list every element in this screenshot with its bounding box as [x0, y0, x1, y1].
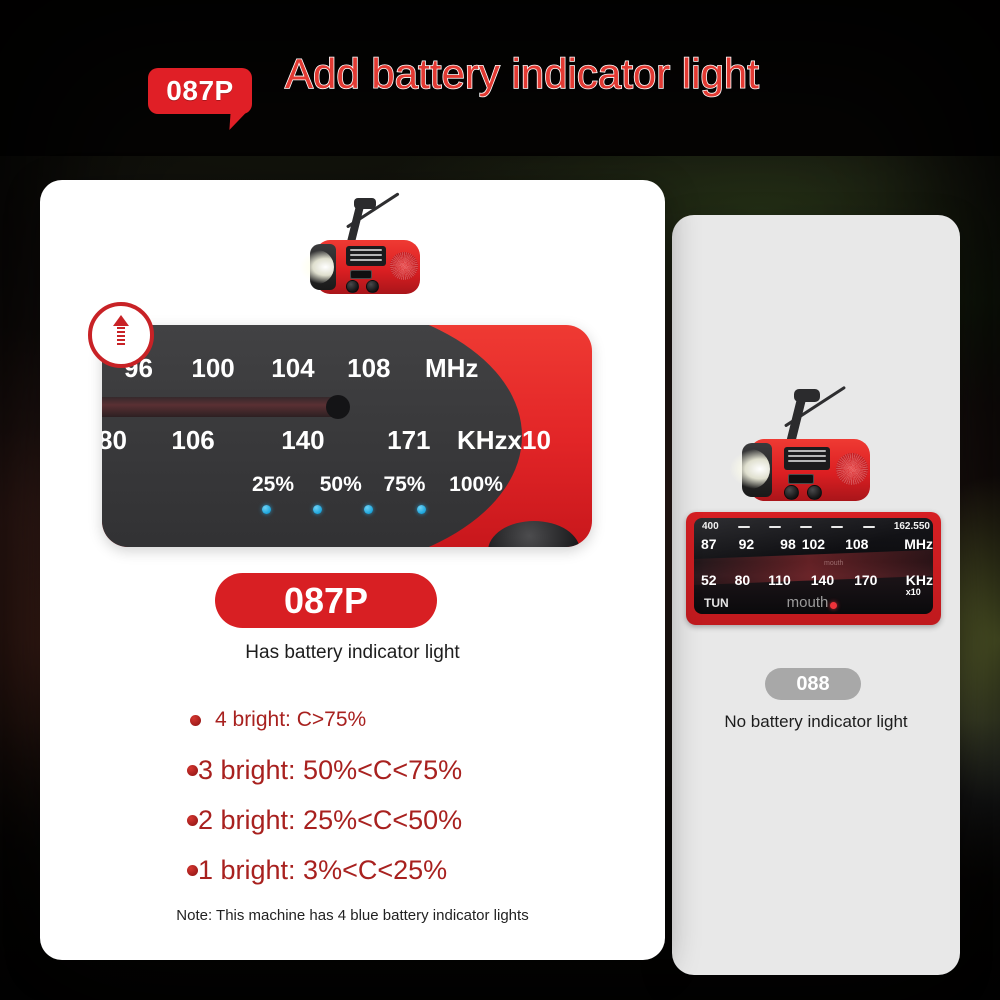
- dial-ghost-brand-label: mouth: [824, 560, 843, 567]
- battery-led-4: [417, 505, 426, 514]
- radio-screen: [788, 474, 814, 484]
- dial-glass: 400 162.550 87 92 98 102: [694, 518, 933, 614]
- dial-top-left-label: 400: [702, 521, 719, 532]
- bullet-dot-icon: [187, 815, 198, 826]
- crank-handle-icon: [354, 198, 376, 209]
- battery-led-2: [313, 505, 322, 514]
- model-pill-088-label: 088: [796, 674, 829, 694]
- up-arrow-icon: [113, 315, 129, 347]
- zoom-callout-icon: [88, 302, 154, 368]
- battery-led-3: [364, 505, 373, 514]
- dial-khz-tick-1: 80: [102, 425, 127, 456]
- list-item: 1 bright: 3%<C<25%: [165, 845, 635, 895]
- dial-khz-scale: 80 106 140 171 KHzx10: [102, 425, 551, 456]
- list-item: 4 bright: C>75%: [165, 695, 635, 745]
- right-comparison-card: 400 162.550 87 92 98 102: [672, 215, 960, 975]
- left-feature-card: 96 100 104 108 MHz 80 106 140 171: [40, 180, 665, 960]
- tuning-knob-icon: [807, 485, 822, 500]
- model-pill-087p-label: 087P: [284, 583, 368, 619]
- power-led-icon: [830, 602, 837, 609]
- dial-khz-tick-4: 140: [811, 572, 834, 588]
- dial-battery-tick-2: 50%: [320, 473, 362, 497]
- dial-dash-3: [800, 526, 812, 528]
- dial-battery-tick-1: 25%: [252, 473, 294, 497]
- list-item: 2 bright: 25%<C<50%: [165, 795, 635, 845]
- flashlight-beam-icon: [730, 449, 770, 489]
- dial-top-scale: 400 162.550: [702, 521, 930, 532]
- model-pill-087p: 087P: [215, 573, 437, 628]
- battery-level-list: 4 bright: C>75% 3 bright: 50%<C<75% 2 br…: [165, 695, 635, 895]
- dial-mhz-tick-5: 108: [845, 536, 868, 552]
- dial-dash-1: [738, 526, 750, 528]
- dial-khz-tick-5: 170: [854, 572, 877, 588]
- dial-mhz-tick-1: 87: [701, 536, 717, 552]
- dial-mhz-tick-3: 98: [780, 536, 796, 552]
- dial-mhz-tick-2: 92: [739, 536, 755, 552]
- header: 087P Add battery indicator light: [0, 0, 1000, 156]
- dial-battery-tick-4: 100%: [449, 473, 503, 497]
- radio-screen: [350, 270, 372, 279]
- speech-bubble-tail-icon: [229, 112, 246, 130]
- radio-dial-panel: [346, 246, 386, 266]
- dial-khz-unit: KHzx10: [457, 425, 551, 456]
- dial-mhz-scale: 87 92 98 102 108 MHz: [701, 536, 933, 552]
- product-image-087p: [302, 192, 432, 300]
- dial-dash-2: [769, 526, 781, 528]
- model-pill-088: 088: [765, 668, 861, 700]
- volume-knob-icon: [346, 280, 359, 293]
- dial-top-right-label: 162.550: [894, 521, 930, 532]
- speaker-grille-icon: [836, 453, 868, 485]
- dial-khz-tick-3: 110: [768, 572, 791, 588]
- header-model-badge: 087P: [148, 68, 252, 114]
- dial-mhz-tick-2: 100: [191, 353, 234, 384]
- dial-needle-icon: [326, 395, 350, 419]
- header-model-badge-label: 087P: [166, 77, 233, 105]
- dial-tuning-window: [102, 397, 347, 417]
- dial-bottom-row: TUN mouth: [704, 594, 929, 611]
- dial-battery-tick-3: 75%: [383, 473, 425, 497]
- dial-mhz-unit: MHz: [904, 537, 933, 552]
- dial-khz-tick-2: 80: [735, 572, 751, 588]
- dial-mhz-scale: 96 100 104 108 MHz: [124, 353, 478, 384]
- infographic-page: 087P Add battery indicator light: [0, 0, 1000, 1000]
- left-note: Note: This machine has 4 blue battery in…: [40, 907, 665, 924]
- dial-khz-tick-3: 140: [281, 425, 324, 456]
- bullet-dot-icon: [187, 765, 198, 776]
- list-item: 3 bright: 50%<C<75%: [165, 745, 635, 795]
- dial-dash-4: [831, 526, 843, 528]
- dial-mhz-tick-4: 102: [802, 536, 825, 552]
- bullet-dot-icon: [187, 865, 198, 876]
- dial-knob-icon: [488, 521, 580, 547]
- dial-photo-088: 400 162.550 87 92 98 102: [686, 512, 941, 625]
- dial-khz-tick-4: 171: [387, 425, 430, 456]
- crank-handle-icon: [794, 389, 820, 402]
- flashlight-beam-icon: [300, 250, 334, 284]
- dial-brand-label: mouth: [787, 594, 829, 611]
- radio-dial-panel: [784, 447, 830, 470]
- right-caption: No battery indicator light: [672, 712, 960, 732]
- left-caption: Has battery indicator light: [40, 642, 665, 664]
- volume-knob-icon: [784, 485, 799, 500]
- list-item-label: 1 bright: 3%<C<25%: [198, 855, 447, 886]
- dial-khz-tick-1: 52: [701, 572, 717, 588]
- dial-battery-scale: 25% 50% 75% 100%: [252, 473, 503, 497]
- dial-dash-5: [863, 526, 875, 528]
- dial-khz-tick-2: 106: [171, 425, 214, 456]
- dial-tune-label: TUN: [704, 596, 729, 610]
- battery-indicator-leds: [262, 505, 426, 514]
- tuning-knob-icon: [366, 280, 379, 293]
- dial-zoom-illustration: 96 100 104 108 MHz 80 106 140 171: [102, 325, 592, 547]
- dial-mhz-tick-3: 104: [271, 353, 314, 384]
- dial-khz-unit-label: KHz: [906, 572, 933, 588]
- battery-led-1: [262, 505, 271, 514]
- list-item-label: 4 bright: C>75%: [215, 708, 366, 732]
- page-title: Add battery indicator light: [285, 52, 945, 97]
- dial-mhz-tick-4: 108: [347, 353, 390, 384]
- product-image-088: [734, 385, 884, 507]
- speaker-grille-icon: [390, 252, 418, 280]
- dial-mhz-unit: MHz: [425, 353, 478, 384]
- bullet-dot-icon: [190, 715, 201, 726]
- list-item-label: 2 bright: 25%<C<50%: [198, 805, 462, 836]
- list-item-label: 3 bright: 50%<C<75%: [198, 755, 462, 786]
